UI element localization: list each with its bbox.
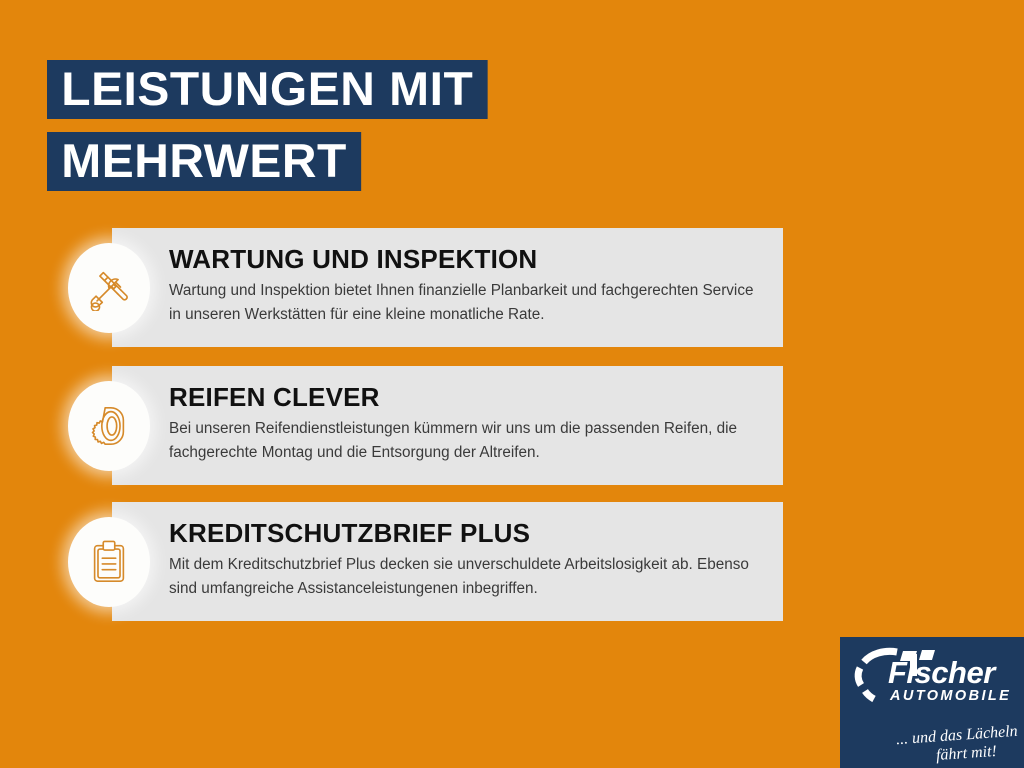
card-text: Bei unseren Reifendienstleistungen kümme…	[169, 417, 769, 465]
tire-icon	[86, 403, 132, 449]
card-text: Wartung und Inspektion bietet Ihnen fina…	[169, 279, 769, 327]
page-title: LEISTUNGEN MIT MEHRWERT	[47, 60, 479, 191]
icon-badge	[68, 517, 150, 607]
icon-badge	[68, 381, 150, 471]
card-body: REIFEN CLEVER Bei unseren Reifendienstle…	[169, 382, 769, 465]
icon-badge	[68, 243, 150, 333]
title-line-2: MEHRWERT	[47, 132, 361, 191]
title-line-1-wrap: LEISTUNGEN MIT	[47, 60, 479, 119]
card-body: WARTUNG UND INSPEKTION Wartung und Inspe…	[169, 244, 769, 327]
service-card: WARTUNG UND INSPEKTION Wartung und Inspe…	[112, 228, 783, 347]
card-title: KREDITSCHUTZBRIEF PLUS	[169, 518, 769, 548]
wrench-screwdriver-icon	[86, 265, 132, 311]
logo-subtitle: AUTOMOBILE	[890, 688, 1011, 704]
card-title: REIFEN CLEVER	[169, 382, 769, 412]
clipboard-icon	[87, 539, 131, 585]
logo-brand-name: Fischer	[888, 657, 995, 688]
logo-tagline-line-2: fährt mit!	[935, 743, 997, 765]
card-body: KREDITSCHUTZBRIEF PLUS Mit dem Kreditsch…	[169, 518, 769, 601]
title-line-2-wrap: MEHRWERT	[47, 132, 479, 191]
card-text: Mit dem Kreditschutzbrief Plus decken si…	[169, 553, 769, 601]
card-title: WARTUNG UND INSPEKTION	[169, 244, 769, 274]
company-logo: Fischer AUTOMOBILE ... und das Lächeln f…	[840, 637, 1024, 768]
service-card: REIFEN CLEVER Bei unseren Reifendienstle…	[112, 366, 783, 485]
title-line-1: LEISTUNGEN MIT	[47, 60, 488, 119]
service-card: KREDITSCHUTZBRIEF PLUS Mit dem Kreditsch…	[112, 502, 783, 621]
